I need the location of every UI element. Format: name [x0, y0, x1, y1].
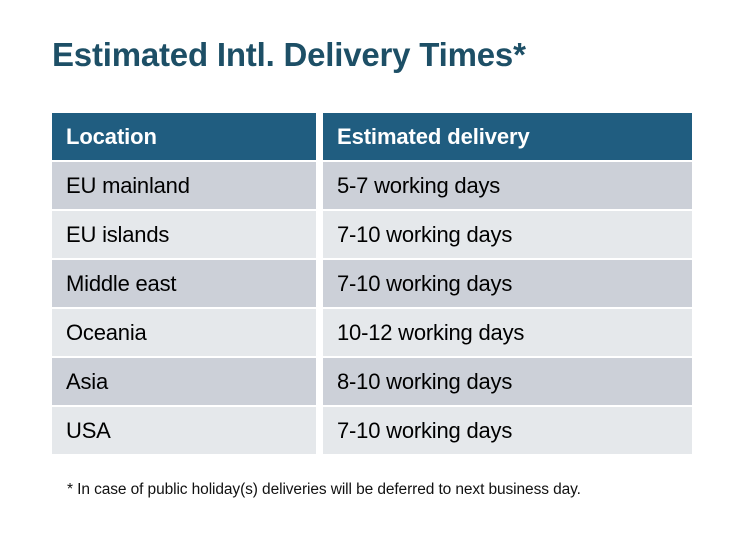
cell-location: EU islands — [52, 211, 316, 258]
table-row: USA 7-10 working days — [52, 407, 692, 454]
delivery-times-page: Estimated Intl. Delivery Times* Location… — [0, 0, 745, 536]
page-title: Estimated Intl. Delivery Times* — [52, 36, 526, 74]
column-header-location: Location — [52, 113, 316, 160]
table-row: Asia 8-10 working days — [52, 358, 692, 405]
cell-estimated-delivery: 7-10 working days — [323, 260, 692, 307]
cell-location: USA — [52, 407, 316, 454]
cell-estimated-delivery: 7-10 working days — [323, 211, 692, 258]
table-row: EU mainland 5-7 working days — [52, 162, 692, 209]
cell-estimated-delivery: 7-10 working days — [323, 407, 692, 454]
cell-estimated-delivery: 5-7 working days — [323, 162, 692, 209]
column-header-estimated-delivery: Estimated delivery — [323, 113, 692, 160]
table-header-row: Location Estimated delivery — [52, 113, 692, 160]
cell-location: Middle east — [52, 260, 316, 307]
cell-location: EU mainland — [52, 162, 316, 209]
table-row: EU islands 7-10 working days — [52, 211, 692, 258]
cell-location: Asia — [52, 358, 316, 405]
delivery-times-table: Location Estimated delivery EU mainland … — [52, 113, 692, 454]
cell-estimated-delivery: 8-10 working days — [323, 358, 692, 405]
table-row: Middle east 7-10 working days — [52, 260, 692, 307]
cell-estimated-delivery: 10-12 working days — [323, 309, 692, 356]
footnote-text: * In case of public holiday(s) deliverie… — [67, 481, 581, 499]
cell-location: Oceania — [52, 309, 316, 356]
table-row: Oceania 10-12 working days — [52, 309, 692, 356]
